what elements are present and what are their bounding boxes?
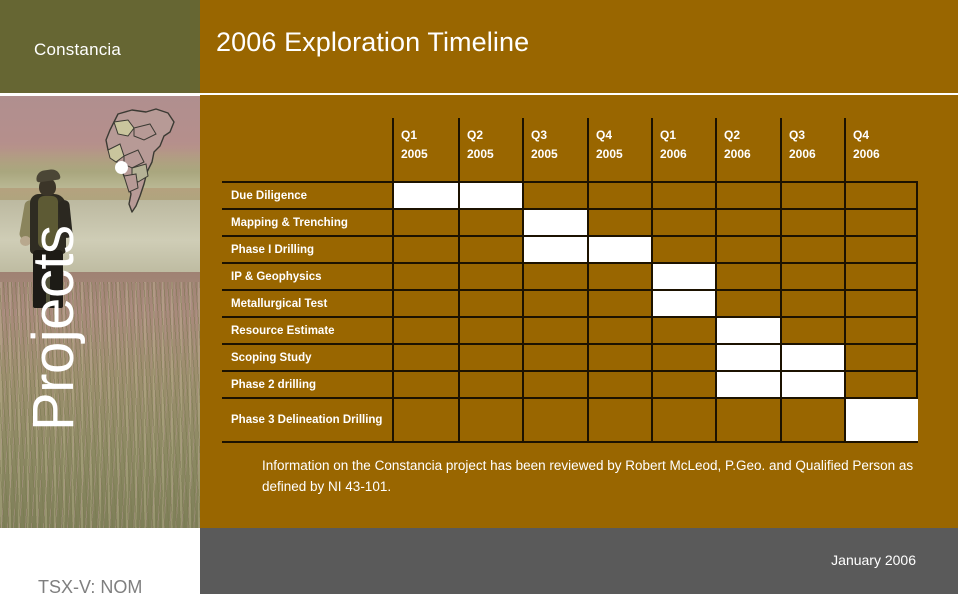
table-row: IP & Geophysics (222, 264, 918, 291)
timeline-empty-cell (780, 318, 844, 343)
timeline-empty-cell (458, 345, 522, 370)
timeline-bar-segment (780, 345, 844, 370)
timeline-bar-segment (715, 318, 780, 343)
sidebar: Constancia (0, 0, 200, 528)
column-year-label: 2005 (401, 145, 458, 164)
timeline-empty-cell (780, 399, 844, 441)
column-quarter-label: Q3 (789, 126, 844, 145)
timeline-bar-segment (392, 183, 458, 208)
timeline-empty-cell (587, 183, 651, 208)
column-quarter-label: Q2 (467, 126, 522, 145)
timeline-empty-cell (651, 372, 715, 397)
timeline-empty-cell (651, 318, 715, 343)
timeline-bar-segment (522, 237, 587, 262)
table-header-cells: Q12005Q22005Q32005Q42005Q12006Q22006Q320… (392, 118, 918, 181)
slide-root: Constancia (0, 0, 958, 594)
table-row: Resource Estimate (222, 318, 918, 345)
timeline-empty-cell (458, 372, 522, 397)
timeline-bar-segment (844, 399, 918, 441)
task-label: Phase 2 drilling (222, 372, 392, 397)
timeline-empty-cell (780, 291, 844, 316)
sidebar-photo: Projects (0, 96, 200, 528)
timeline-empty-cell (844, 345, 918, 370)
timeline-empty-cell (587, 264, 651, 289)
timeline-bar-segment (715, 372, 780, 397)
timeline-empty-cell (587, 210, 651, 235)
timeline-empty-cell (780, 237, 844, 262)
table-row: Phase 3 Delineation Drilling (222, 399, 918, 443)
timeline-empty-cell (844, 372, 918, 397)
timeline-empty-cell (715, 291, 780, 316)
timeline-bar-segment (458, 183, 522, 208)
main-panel: 2006 Exploration Timeline Q12005Q22005Q3… (200, 0, 958, 528)
section-label-projects: Projects (25, 191, 83, 431)
column-year-label: 2006 (789, 145, 844, 164)
timeline-empty-cell (522, 345, 587, 370)
task-timeline-cells (392, 399, 918, 441)
task-timeline-cells (392, 183, 918, 208)
task-timeline-cells (392, 318, 918, 343)
timeline-empty-cell (780, 210, 844, 235)
timeline-empty-cell (392, 345, 458, 370)
timeline-empty-cell (715, 237, 780, 262)
column-header-q1-2006: Q12006 (651, 118, 715, 181)
timeline-empty-cell (587, 372, 651, 397)
timeline-bar-segment (651, 291, 715, 316)
column-year-label: 2005 (467, 145, 522, 164)
column-quarter-label: Q4 (596, 126, 651, 145)
task-timeline-cells (392, 345, 918, 370)
timeline-empty-cell (715, 183, 780, 208)
task-label: Metallurgical Test (222, 291, 392, 316)
table-row: Scoping Study (222, 345, 918, 372)
column-quarter-label: Q4 (853, 126, 918, 145)
location-dot-marker (115, 161, 128, 174)
stock-ticker-label: TSX-V: NOM (38, 577, 142, 598)
presentation-date: January 2006 (831, 552, 916, 568)
timeline-empty-cell (780, 264, 844, 289)
timeline-empty-cell (715, 264, 780, 289)
timeline-empty-cell (780, 183, 844, 208)
task-label: IP & Geophysics (222, 264, 392, 289)
timeline-empty-cell (587, 318, 651, 343)
table-body: Due DiligenceMapping & TrenchingPhase I … (222, 181, 918, 443)
column-header-q2-2005: Q22005 (458, 118, 522, 181)
timeline-empty-cell (392, 210, 458, 235)
column-quarter-label: Q3 (531, 126, 587, 145)
timeline-empty-cell (522, 399, 587, 441)
timeline-bar-segment (651, 264, 715, 289)
timeline-empty-cell (651, 210, 715, 235)
task-label: Resource Estimate (222, 318, 392, 343)
timeline-empty-cell (522, 291, 587, 316)
timeline-empty-cell (392, 291, 458, 316)
timeline-empty-cell (715, 210, 780, 235)
timeline-empty-cell (844, 210, 918, 235)
footnote-text: Information on the Constancia project ha… (262, 455, 922, 497)
timeline-empty-cell (651, 183, 715, 208)
timeline-empty-cell (587, 345, 651, 370)
exploration-timeline-table: Q12005Q22005Q32005Q42005Q12006Q22006Q320… (222, 118, 918, 443)
table-row: Phase I Drilling (222, 237, 918, 264)
table-row: Due Diligence (222, 183, 918, 210)
timeline-empty-cell (458, 237, 522, 262)
timeline-empty-cell (522, 318, 587, 343)
column-year-label: 2006 (724, 145, 780, 164)
timeline-empty-cell (587, 291, 651, 316)
column-header-q3-2005: Q32005 (522, 118, 587, 181)
timeline-empty-cell (458, 291, 522, 316)
timeline-empty-cell (392, 237, 458, 262)
timeline-empty-cell (392, 372, 458, 397)
timeline-empty-cell (522, 372, 587, 397)
timeline-bar-segment (522, 210, 587, 235)
table-row: Mapping & Trenching (222, 210, 918, 237)
figure-hat (35, 168, 60, 182)
title-divider (200, 93, 958, 95)
timeline-empty-cell (458, 210, 522, 235)
timeline-bar-segment (587, 237, 651, 262)
column-header-q3-2006: Q32006 (780, 118, 844, 181)
south-america-map-icon (98, 106, 182, 216)
task-timeline-cells (392, 237, 918, 262)
table-row: Phase 2 drilling (222, 372, 918, 399)
task-label: Phase I Drilling (222, 237, 392, 262)
timeline-empty-cell (651, 399, 715, 441)
timeline-empty-cell (522, 183, 587, 208)
timeline-empty-cell (844, 237, 918, 262)
table-row: Metallurgical Test (222, 291, 918, 318)
task-timeline-cells (392, 264, 918, 289)
column-header-q1-2005: Q12005 (392, 118, 458, 181)
column-quarter-label: Q1 (660, 126, 715, 145)
page-title: 2006 Exploration Timeline (216, 27, 529, 58)
timeline-empty-cell (587, 399, 651, 441)
timeline-empty-cell (392, 264, 458, 289)
project-name-label: Constancia (34, 40, 121, 60)
footer-bar: TSX-V: NOM January 2006 (0, 528, 958, 594)
timeline-empty-cell (844, 264, 918, 289)
timeline-empty-cell (844, 183, 918, 208)
timeline-bar-segment (780, 372, 844, 397)
timeline-empty-cell (844, 318, 918, 343)
task-label: Phase 3 Delineation Drilling (222, 399, 392, 441)
timeline-empty-cell (715, 399, 780, 441)
timeline-empty-cell (844, 291, 918, 316)
column-year-label: 2006 (853, 145, 918, 164)
column-header-q2-2006: Q22006 (715, 118, 780, 181)
column-header-q4-2005: Q42005 (587, 118, 651, 181)
timeline-empty-cell (651, 237, 715, 262)
task-timeline-cells (392, 291, 918, 316)
timeline-empty-cell (522, 264, 587, 289)
column-year-label: 2005 (596, 145, 651, 164)
task-timeline-cells (392, 210, 918, 235)
timeline-empty-cell (651, 345, 715, 370)
timeline-empty-cell (458, 399, 522, 441)
task-label: Due Diligence (222, 183, 392, 208)
table-header-row: Q12005Q22005Q32005Q42005Q12006Q22006Q320… (222, 118, 918, 181)
timeline-bar-segment (715, 345, 780, 370)
column-year-label: 2005 (531, 145, 587, 164)
timeline-empty-cell (392, 318, 458, 343)
column-year-label: 2006 (660, 145, 715, 164)
task-timeline-cells (392, 372, 918, 397)
task-label: Mapping & Trenching (222, 210, 392, 235)
column-quarter-label: Q1 (401, 126, 458, 145)
sidebar-header-block: Constancia (0, 0, 200, 93)
column-header-q4-2006: Q42006 (844, 118, 918, 181)
column-quarter-label: Q2 (724, 126, 780, 145)
timeline-empty-cell (392, 399, 458, 441)
task-label: Scoping Study (222, 345, 392, 370)
timeline-empty-cell (458, 264, 522, 289)
timeline-empty-cell (458, 318, 522, 343)
